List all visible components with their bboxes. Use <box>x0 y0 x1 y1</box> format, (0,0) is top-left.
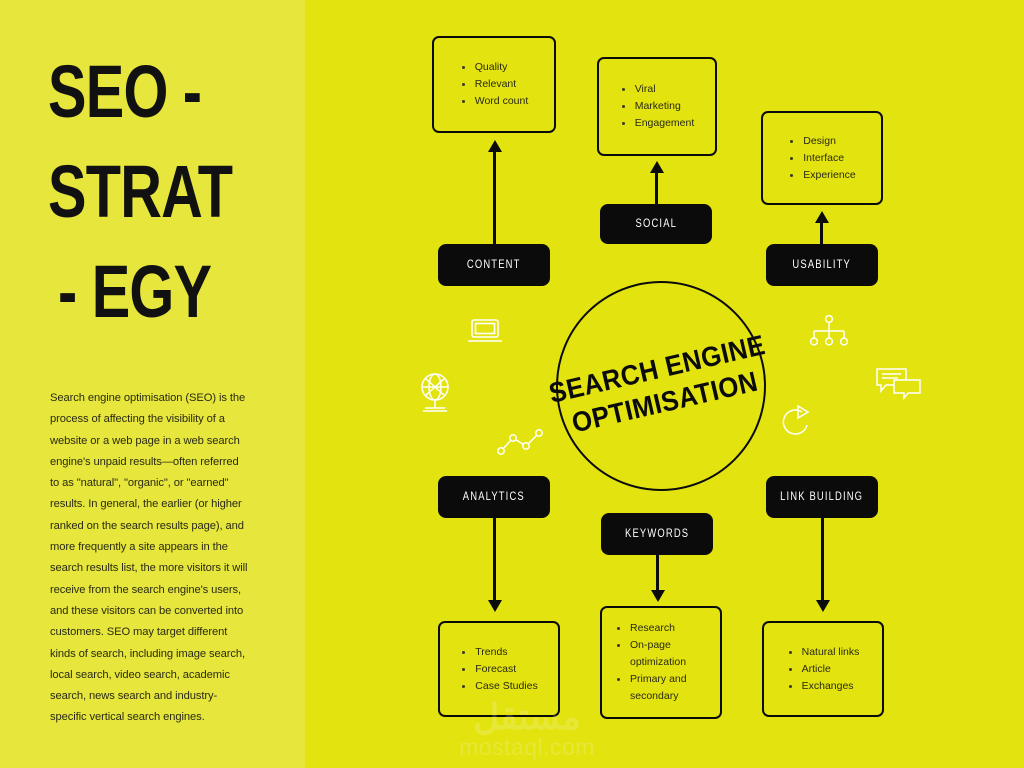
arrow-keywords <box>651 590 665 602</box>
arrow-analytics <box>488 600 502 612</box>
node-social[interactable]: SOCIAL <box>600 204 712 244</box>
list-item: Marketing <box>620 98 695 115</box>
node-social-label: SOCIAL <box>635 218 676 230</box>
arrow-social <box>650 161 664 173</box>
arrow-usability <box>815 211 829 223</box>
title-line-1: SEO - <box>48 42 204 142</box>
list-item: Trends <box>460 644 537 661</box>
left-panel: SEO - STRAT - EGY Search engine optimisa… <box>0 0 305 768</box>
list-item: Engagement <box>620 115 695 132</box>
list-item: Design <box>788 133 856 150</box>
line-chart-icon <box>496 428 544 456</box>
arrow-content <box>488 140 502 152</box>
list-item: Experience <box>788 167 856 184</box>
node-analytics-label: ANALYTICS <box>463 491 525 503</box>
page-title: SEO - STRAT - EGY <box>48 42 248 342</box>
node-keywords-label: KEYWORDS <box>625 528 689 540</box>
analytics-detail-box: Trends Forecast Case Studies <box>438 621 560 717</box>
connector-content <box>493 148 496 244</box>
list-item: Case Studies <box>460 678 537 695</box>
arrow-link-building <box>816 600 830 612</box>
list-item: Relevant <box>460 76 529 93</box>
list-item: Natural links <box>787 644 860 661</box>
node-link-building[interactable]: LINK BUILDING <box>766 476 878 518</box>
list-item: Viral <box>620 81 695 98</box>
laptop-icon <box>467 318 503 344</box>
list-item: On-page optimization <box>615 637 707 671</box>
globe-icon <box>416 372 454 414</box>
keywords-detail-box: Research On-page optimization Primary an… <box>600 606 722 719</box>
social-detail-box: Viral Marketing Engagement <box>597 57 717 156</box>
connector-social <box>655 170 658 204</box>
node-content[interactable]: CONTENT <box>438 244 550 286</box>
intro-paragraph: Search engine optimisation (SEO) is the … <box>50 388 250 729</box>
refresh-arrow-icon <box>782 405 814 441</box>
title-line-2: STRAT <box>48 142 204 242</box>
infographic-canvas: SEO - STRAT - EGY Search engine optimisa… <box>0 0 1024 768</box>
list-item: Primary and secondary <box>615 671 707 705</box>
title-line-3: - EGY <box>58 242 206 342</box>
list-item: Interface <box>788 150 856 167</box>
connector-analytics <box>493 518 496 603</box>
node-usability-label: USABILITY <box>793 259 852 271</box>
list-item: Quality <box>460 59 529 76</box>
content-detail-box: Quality Relevant Word count <box>432 36 556 133</box>
node-link-building-label: LINK BUILDING <box>780 491 863 503</box>
list-item: Forecast <box>460 661 537 678</box>
list-item: Article <box>787 661 860 678</box>
node-analytics[interactable]: ANALYTICS <box>438 476 550 518</box>
link-building-detail-box: Natural links Article Exchanges <box>762 621 884 717</box>
chat-bubbles-icon <box>876 368 922 400</box>
node-keywords[interactable]: KEYWORDS <box>601 513 713 555</box>
sitemap-icon <box>808 314 850 348</box>
connector-link-building <box>821 518 824 603</box>
connector-keywords <box>656 555 659 593</box>
list-item: Word count <box>460 93 529 110</box>
connector-usability <box>820 220 823 244</box>
node-usability[interactable]: USABILITY <box>766 244 878 286</box>
usability-detail-box: Design Interface Experience <box>761 111 883 205</box>
node-content-label: CONTENT <box>467 259 521 271</box>
list-item: Research <box>615 620 707 637</box>
list-item: Exchanges <box>787 678 860 695</box>
